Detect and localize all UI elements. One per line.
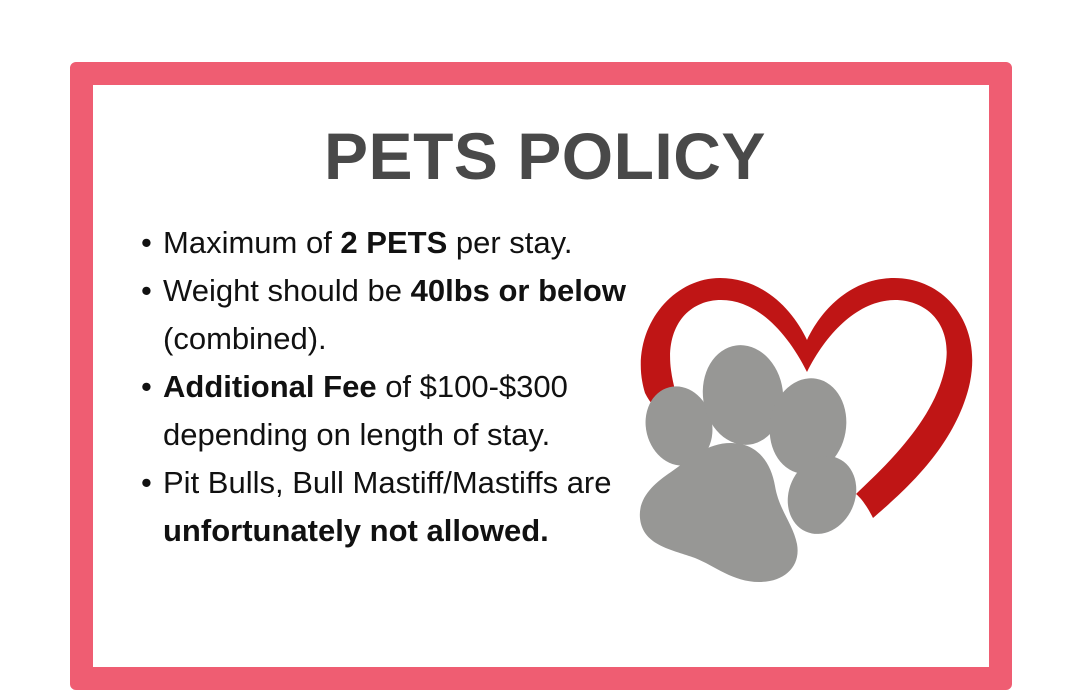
paw-main-pad <box>640 443 798 582</box>
list-item-max-pets: • Maximum of 2 PETS per stay. <box>136 219 641 267</box>
bullet-icon: • <box>141 459 161 507</box>
emphasis-text: unfortunately not allowed. <box>163 513 549 548</box>
body-text: per stay. <box>447 225 572 260</box>
list-item-breed-restriction: • Pit Bulls, Bull Mastiff/Mastiffs are u… <box>136 459 641 555</box>
bullet-icon: • <box>141 267 161 315</box>
body-text: Maximum of <box>163 225 340 260</box>
emphasis-text: 2 PETS <box>340 225 447 260</box>
bullet-icon: • <box>141 363 161 411</box>
body-text: Weight should be <box>163 273 411 308</box>
paw-print-icon <box>637 340 868 582</box>
page-title: PETS POLICY <box>110 122 980 191</box>
body-text: Pit Bulls, Bull Mastiff/Mastiffs are <box>163 465 612 500</box>
list-item-weight-limit: • Weight should be 40lbs or below (combi… <box>136 267 641 363</box>
policy-text-weight-limit: Weight should be 40lbs or below (combine… <box>163 273 626 356</box>
policy-text-additional-fee: Additional Fee of $100-$300 depending on… <box>163 369 568 452</box>
body-text: (combined). <box>163 321 327 356</box>
policy-text-max-pets: Maximum of 2 PETS per stay. <box>163 225 572 260</box>
pets-policy-poster: PETS POLICY • Maximum of 2 PETS per stay… <box>0 0 1080 700</box>
emphasis-text: 40lbs or below <box>411 273 626 308</box>
policy-text-breed-restriction: Pit Bulls, Bull Mastiff/Mastiffs are unf… <box>163 465 612 548</box>
bullet-icon: • <box>141 219 161 267</box>
emphasis-text: Additional Fee <box>163 369 377 404</box>
heart-paw-logo <box>615 248 995 593</box>
list-item-additional-fee: • Additional Fee of $100-$300 depending … <box>136 363 641 459</box>
policy-list: • Maximum of 2 PETS per stay. • Weight s… <box>136 219 641 555</box>
